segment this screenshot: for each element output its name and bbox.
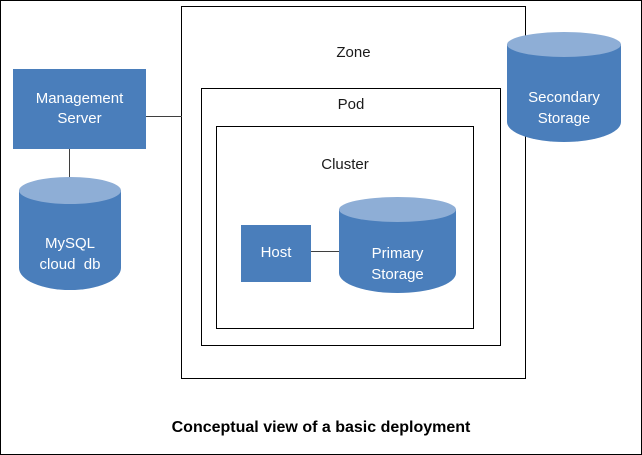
host-label: Host [261,243,292,263]
deployment-diagram: Zone Pod Cluster Management Server MySQL… [0,0,642,455]
cluster-label: Cluster [216,156,474,173]
management-server-label-line1: Management [36,89,124,109]
management-server-label-line2: Server [57,109,101,129]
zone-label: Zone [181,44,526,61]
primary-storage-cylinder[interactable]: PrimaryStorage [339,197,456,305]
mysql-db-cylinder-top [19,177,121,204]
secondary-storage-cylinder[interactable]: SecondaryStorage [507,32,621,154]
mysql-db-label-line1: MySQL [45,235,95,252]
secondary-storage-label-line2: Storage [538,110,591,127]
mysql-db-label: MySQLcloud db [19,233,121,275]
secondary-storage-label: SecondaryStorage [507,87,621,129]
primary-storage-label: PrimaryStorage [339,243,456,285]
mysql-db-cylinder[interactable]: MySQLcloud db [19,177,121,303]
connector-mgmt-to-zone [146,116,182,117]
mysql-db-label-line2: cloud db [40,256,101,273]
pod-label: Pod [201,96,501,113]
primary-storage-label-line1: Primary [372,245,424,262]
primary-storage-label-line2: Storage [371,266,424,283]
host-node[interactable]: Host [241,225,311,282]
secondary-storage-cylinder-top [507,32,621,57]
primary-storage-cylinder-top [339,197,456,222]
figure-caption: Conceptual view of a basic deployment [1,419,641,437]
secondary-storage-label-line1: Secondary [528,89,600,106]
management-server-node[interactable]: Management Server [13,69,146,149]
